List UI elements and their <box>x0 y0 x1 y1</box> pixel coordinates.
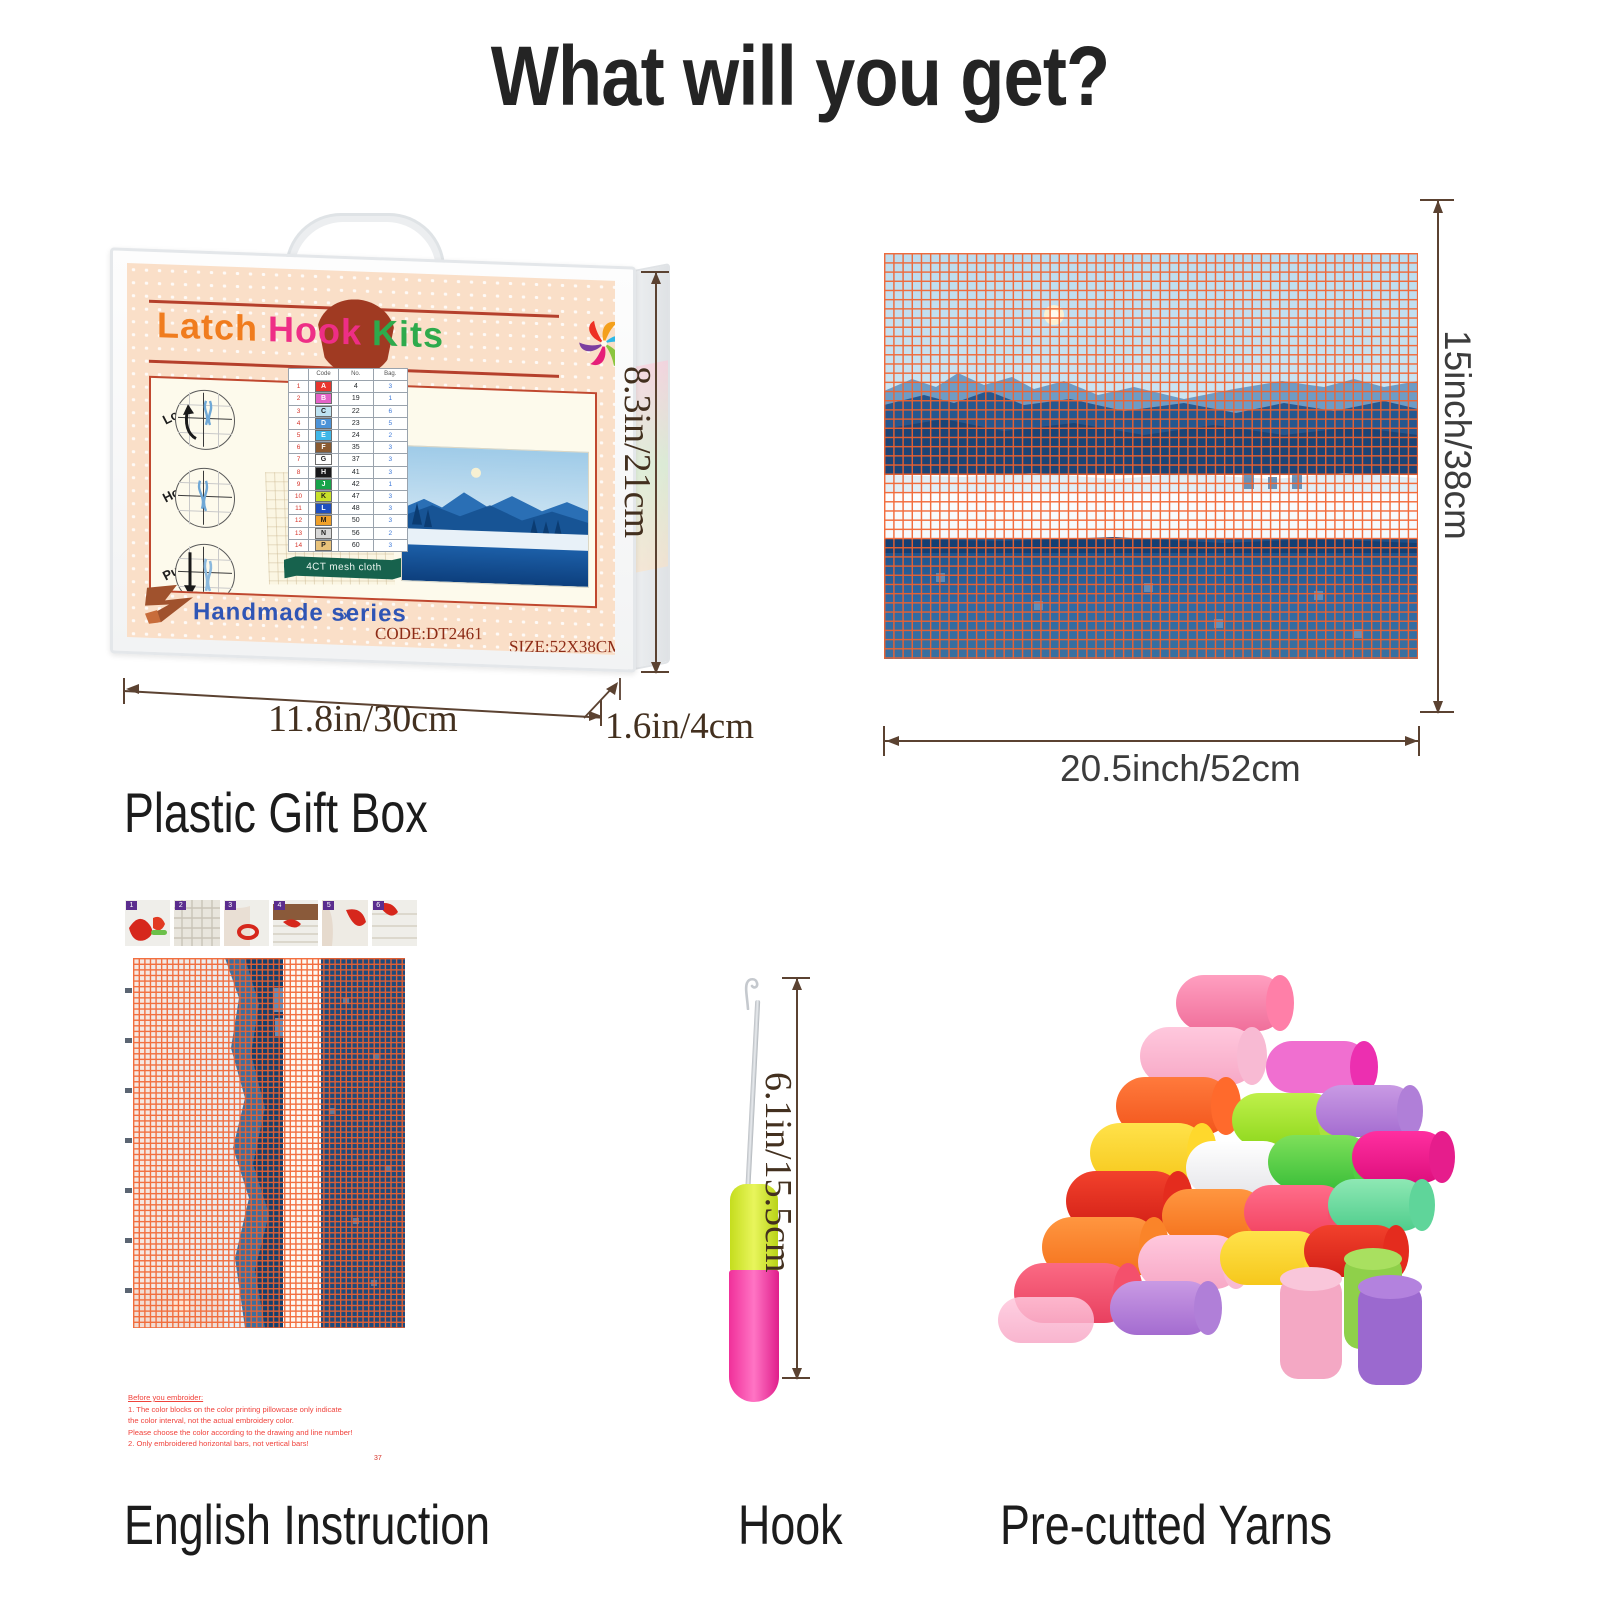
brand-word-hook: Hook <box>268 308 362 352</box>
thumbnail-step: 3 <box>224 900 269 946</box>
legend-index: 1 <box>289 381 309 393</box>
legend-index: 13 <box>289 527 309 539</box>
brand-word-kits: Kits <box>372 312 444 356</box>
legend-bag: 2 <box>373 430 408 442</box>
legend-bag: 3 <box>373 442 408 454</box>
box-width-dim-label: 11.8in/30cm <box>268 697 458 741</box>
legend-no: 35 <box>339 442 373 454</box>
legend-header-code: Code <box>309 369 339 381</box>
legend-no: 24 <box>339 430 373 442</box>
chart-ruler-tick <box>125 1138 132 1143</box>
color-swatch: A <box>315 381 332 392</box>
color-swatch: L <box>315 503 332 514</box>
legend-no: 60 <box>339 539 373 551</box>
legend-row: 12 M 50 3 <box>289 515 408 527</box>
legend-header-no: No. <box>339 369 373 381</box>
legend-row: 7 G 37 3 <box>289 454 408 466</box>
legend-no: 56 <box>339 527 373 539</box>
thumb-number: 4 <box>274 901 285 910</box>
legend-row: 13 N 56 2 <box>289 527 408 539</box>
legend-code-cell: E <box>309 430 339 442</box>
legend-code-cell: A <box>309 381 339 393</box>
legend-row: 2 B 19 1 <box>289 393 408 405</box>
before-you-embroider-notes: Before you embroider: 1. The color block… <box>128 1392 398 1450</box>
legend-index: 2 <box>289 393 309 405</box>
step-diagram-hook <box>175 467 235 529</box>
legend-code-cell: B <box>309 393 339 405</box>
box-code-label: CODE:DT2461 <box>375 624 483 644</box>
legend-row: 5 E 24 2 <box>289 430 408 442</box>
chart-ruler-tick <box>125 988 132 993</box>
legend-header-index <box>289 369 309 381</box>
thumbnail-step: 2 <box>174 900 219 946</box>
legend-code-cell: G <box>309 454 339 466</box>
color-swatch: N <box>315 528 332 539</box>
canvas-width-dim-label: 20.5inch/52cm <box>1060 748 1301 790</box>
thumb-number: 1 <box>126 901 137 910</box>
chart-ruler-tick <box>125 1238 132 1243</box>
legend-index: 7 <box>289 454 309 466</box>
color-swatch: M <box>315 515 332 526</box>
legend-code-cell: M <box>309 515 339 527</box>
legend-row: 4 D 23 5 <box>289 417 408 429</box>
legend-bag: 6 <box>373 405 408 417</box>
before-notes-line-1: 1. The color blocks on the color printin… <box>128 1404 398 1416</box>
color-swatch: G <box>315 454 332 465</box>
legend-code-cell: K <box>309 491 339 503</box>
legend-index: 10 <box>289 491 309 503</box>
thumbnail-step: 4 <box>273 900 318 946</box>
legend-bag: 3 <box>373 381 408 393</box>
color-swatch: F <box>315 442 332 453</box>
pinwheel-logo-icon <box>573 311 615 375</box>
color-swatch: E <box>315 430 332 441</box>
mesh-canvas-image <box>884 253 1418 659</box>
legend-index: 5 <box>289 430 309 442</box>
legend-index: 4 <box>289 417 309 429</box>
english-instruction-image: 1 2 3 <box>125 900 417 1465</box>
legend-row: 6 F 35 3 <box>289 442 408 454</box>
box-depth-dim-label: 1.6in/4cm <box>605 705 754 748</box>
before-notes-line-3: Please choose the color according to the… <box>128 1427 398 1439</box>
thumbnail-step: 6 <box>372 900 417 946</box>
instruction-step-thumbnails: 1 2 3 <box>125 900 417 952</box>
legend-bag: 1 <box>373 393 408 405</box>
legend-no: 50 <box>339 515 373 527</box>
canvas-height-dim-label: 15inch/38cm <box>1436 330 1478 540</box>
legend-row: 10 K 47 3 <box>289 491 408 503</box>
legend-index: 14 <box>289 539 309 551</box>
chart-ruler-tick <box>125 1038 132 1043</box>
legend-bag: 1 <box>373 478 408 490</box>
legend-bag: 3 <box>373 515 408 527</box>
legend-code-cell: F <box>309 442 339 454</box>
chart-ruler-tick <box>125 1188 132 1193</box>
legend-header-row: Code No. Bag. <box>289 369 408 381</box>
before-notes-line-2: the color interval, not the actual embro… <box>128 1415 398 1427</box>
chart-ruler-tick <box>125 1288 132 1293</box>
color-swatch: H <box>315 467 332 478</box>
caption-english-instruction: English Instruction <box>124 1492 490 1557</box>
legend-code-cell: P <box>309 539 339 551</box>
caption-plastic-gift-box: Plastic Gift Box <box>124 780 428 845</box>
thumb-number: 6 <box>373 901 384 910</box>
legend-code-cell: L <box>309 503 339 515</box>
legend-row: 11 L 48 3 <box>289 503 408 515</box>
legend-row: 8 H 41 3 <box>289 466 408 478</box>
color-swatch: B <box>315 393 332 404</box>
legend-bag: 3 <box>373 454 408 466</box>
legend-no: 48 <box>339 503 373 515</box>
chart-grid-overlay <box>133 958 405 1328</box>
pre-cutted-yarns-image <box>980 945 1460 1425</box>
legend-no: 41 <box>339 466 373 478</box>
legend-index: 12 <box>289 515 309 527</box>
legend-row: 14 P 60 3 <box>289 539 408 551</box>
color-swatch: J <box>315 479 332 490</box>
legend-row: 9 J 42 1 <box>289 478 408 490</box>
legend-no: 37 <box>339 454 373 466</box>
legend-no: 23 <box>339 417 373 429</box>
legend-code-cell: D <box>309 417 339 429</box>
legend-index: 9 <box>289 478 309 490</box>
color-swatch: D <box>315 418 332 429</box>
caption-pre-cutted-yarns: Pre-cutted Yarns <box>1000 1492 1332 1557</box>
box-height-dim-label: 8.3in/21cm <box>615 366 659 538</box>
legend-header-bag: Bag. <box>373 369 408 381</box>
legend-row: 1 A 4 3 <box>289 381 408 393</box>
thumb-number: 5 <box>323 901 334 910</box>
box-size-label: SIZE:52X38CM <box>509 637 615 655</box>
hook-yarn-icon <box>176 468 234 528</box>
legend-row: 3 C 22 6 <box>289 405 408 417</box>
legend-no: 4 <box>339 381 373 393</box>
loop-arrow-icon <box>176 390 234 450</box>
legend-no: 42 <box>339 478 373 490</box>
yarn-pile-illustration <box>980 945 1460 1425</box>
before-notes-line-4: 2. Only embroidered horizontal bars, not… <box>128 1438 398 1450</box>
color-swatch: K <box>315 491 332 502</box>
legend-index: 11 <box>289 503 309 515</box>
legend-no: 22 <box>339 405 373 417</box>
legend-bag: 3 <box>373 503 408 515</box>
legend-bag: 3 <box>373 539 408 551</box>
series-mark: » <box>339 607 348 625</box>
instruction-pattern-chart <box>133 958 405 1328</box>
legend-code-cell: N <box>309 527 339 539</box>
hook-length-dim-label: 6.1in/15.5cm <box>756 1072 800 1273</box>
color-legend-table: Code No. Bag. 1 A 4 3 2 B 19 1 3 C 22 6 … <box>288 368 408 552</box>
legend-index: 6 <box>289 442 309 454</box>
legend-bag: 5 <box>373 417 408 429</box>
color-swatch: C <box>315 406 332 417</box>
legend-bag: 2 <box>373 527 408 539</box>
thumbnail-step: 1 <box>125 900 170 946</box>
chart-ruler-tick <box>125 1088 132 1093</box>
brand-word-latch: Latch <box>157 304 258 349</box>
landscape-artwork <box>402 446 588 587</box>
legend-code-cell: C <box>309 405 339 417</box>
step-diagram-loop <box>175 389 235 451</box>
hook-handle-lower <box>729 1270 779 1402</box>
thumbnail-step: 5 <box>322 900 367 946</box>
legend-bag: 3 <box>373 491 408 503</box>
canvas-printed-landscape <box>884 253 1418 659</box>
legend-code-cell: J <box>309 478 339 490</box>
legend-code-cell: H <box>309 466 339 478</box>
legend-total-count: 37 <box>374 1455 382 1462</box>
color-swatch: P <box>315 540 332 551</box>
page-title: What will you get? <box>112 28 1488 125</box>
box-product-photo <box>401 445 589 588</box>
thumb-number: 3 <box>225 901 236 910</box>
caption-hook: Hook <box>738 1492 843 1557</box>
legend-no: 47 <box>339 491 373 503</box>
before-notes-title: Before you embroider: <box>128 1392 398 1404</box>
legend-bag: 3 <box>373 466 408 478</box>
legend-index: 8 <box>289 466 309 478</box>
legend-index: 3 <box>289 405 309 417</box>
legend-no: 19 <box>339 393 373 405</box>
thumb-number: 2 <box>175 901 186 910</box>
